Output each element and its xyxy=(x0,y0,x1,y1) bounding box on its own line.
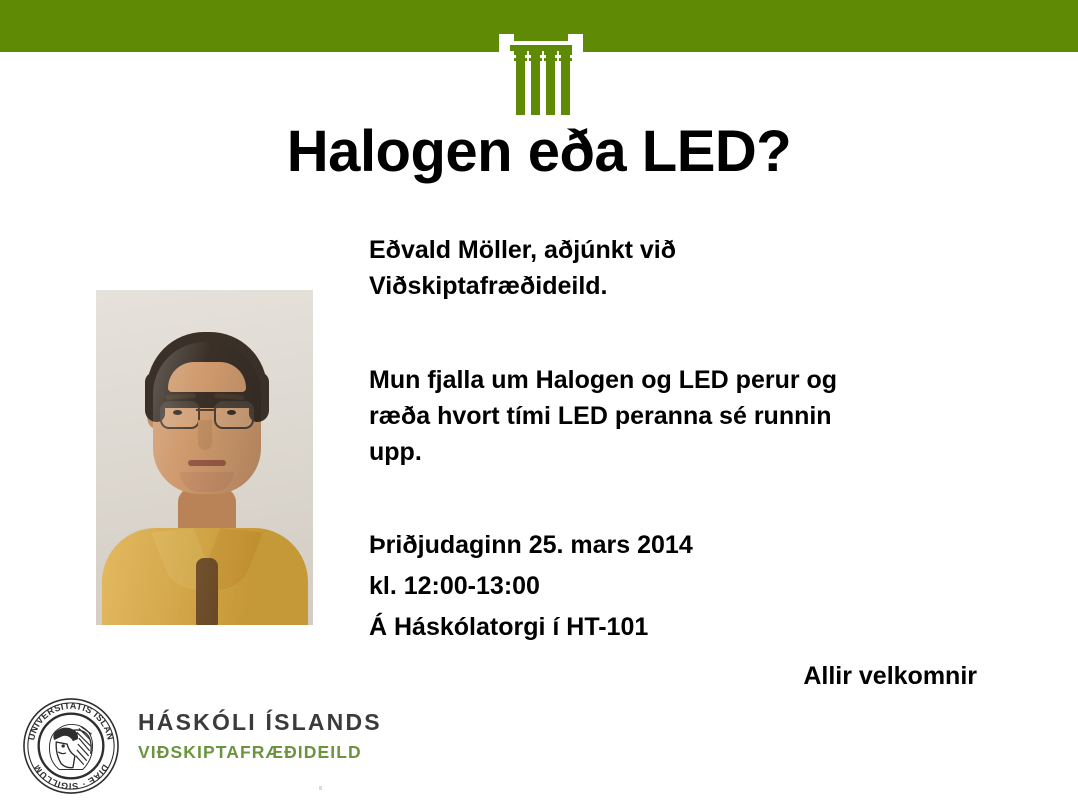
slide-title: Halogen eða LED? xyxy=(0,122,1078,183)
image-artifact-speck xyxy=(319,786,322,790)
emblem-column-1 xyxy=(516,51,525,115)
speaker-info-text: Eðvald Möller, aðjúnkt við Viðskiptafræð… xyxy=(369,232,676,304)
event-datetime-location-text: Þriðjudaginn 25. mars 2014 kl. 12:00-13:… xyxy=(369,525,693,648)
emblem-column-3 xyxy=(546,51,555,115)
emblem-column-2 xyxy=(531,51,540,115)
emblem-column-4 xyxy=(561,51,570,115)
faculty-name-text: VIÐSKIPTAFRÆÐIDEILD xyxy=(138,742,382,763)
portrait-shirt-shading xyxy=(102,528,308,625)
university-name-text: HÁSKÓLI ÍSLANDS xyxy=(138,709,382,736)
speaker-portrait-photo xyxy=(96,290,313,625)
presentation-slide: Halogen eða LED? Eðvald Möller, aðjúnkt … xyxy=(0,0,1078,808)
university-seal-icon: UNIVERSITATIS ISLAN DIAE · SIGILLUM xyxy=(22,697,120,795)
university-columns-emblem-icon xyxy=(497,30,585,120)
closing-welcome-text: Allir velkomnir xyxy=(369,662,977,691)
university-wordmark: HÁSKÓLI ÍSLANDS VIÐSKIPTAFRÆÐIDEILD xyxy=(138,709,382,763)
university-footer-logo: UNIVERSITATIS ISLAN DIAE · SIGILLUM HÁSK… xyxy=(22,697,352,792)
talk-description-text: Mun fjalla um Halogen og LED perur og ræ… xyxy=(369,362,837,470)
portrait-face-shading xyxy=(153,342,261,494)
emblem-entablature xyxy=(514,30,568,41)
